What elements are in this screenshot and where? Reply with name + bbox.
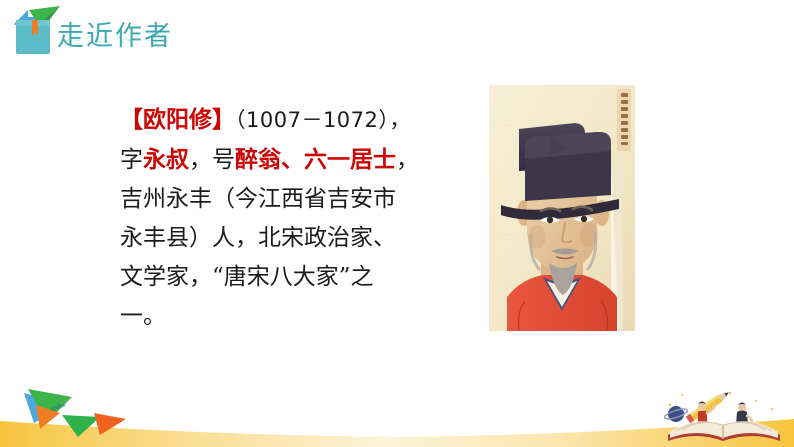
bio-segment: 文学家，“唐宋八大家”之 bbox=[120, 264, 374, 290]
bottom-yellow-band bbox=[0, 411, 794, 447]
bio-segment: ，号 bbox=[189, 147, 235, 173]
page-title: 走近作者 bbox=[57, 14, 173, 53]
bio-segment: 一。 bbox=[120, 303, 166, 329]
slide-header: 走近作者 走近作者 bbox=[0, 0, 420, 78]
author-courtesy-name: 永叔 bbox=[143, 146, 189, 173]
bio-line: 永丰县）人，北宋政治家、 bbox=[120, 219, 480, 258]
open-book-decoration bbox=[660, 383, 788, 445]
author-biography-text: 【欧阳修】（1007－1072）， 字永叔，号醉翁、六一居士， 吉州永丰（今江西… bbox=[120, 100, 480, 336]
bio-line: 吉州永丰（今江西省吉安市 bbox=[120, 180, 480, 219]
bio-segment: 字 bbox=[120, 147, 143, 173]
bio-line: 【欧阳修】（1007－1072）， bbox=[120, 100, 480, 140]
figure-sitting bbox=[736, 403, 752, 431]
bio-segment: 吉州永丰（今江西省吉安市 bbox=[120, 186, 396, 212]
author-name: 【欧阳修】 bbox=[120, 106, 235, 133]
bio-line: 字永叔，号醉翁、六一居士， bbox=[120, 140, 480, 180]
author-art-names: 醉翁、六一居士 bbox=[235, 146, 396, 173]
book-arrow-icon bbox=[8, 4, 64, 56]
ouyang-xiu-portrait bbox=[489, 85, 635, 331]
bio-segment: 永丰县）人，北宋政治家、 bbox=[120, 225, 396, 251]
bio-line: 文学家，“唐宋八大家”之 bbox=[120, 258, 480, 297]
slide-root: 走近作者 走近作者 【欧阳修】（1007－1072）， 字永叔，号醉翁、六一居士… bbox=[0, 0, 794, 447]
bio-line: 一。 bbox=[120, 297, 480, 336]
bio-segment: ， bbox=[396, 147, 419, 173]
author-life-years: （1007－1072）， bbox=[235, 108, 411, 132]
figure-standing bbox=[698, 402, 715, 434]
triangle-cluster-decoration bbox=[8, 379, 138, 441]
calligraphy-column bbox=[617, 89, 631, 151]
